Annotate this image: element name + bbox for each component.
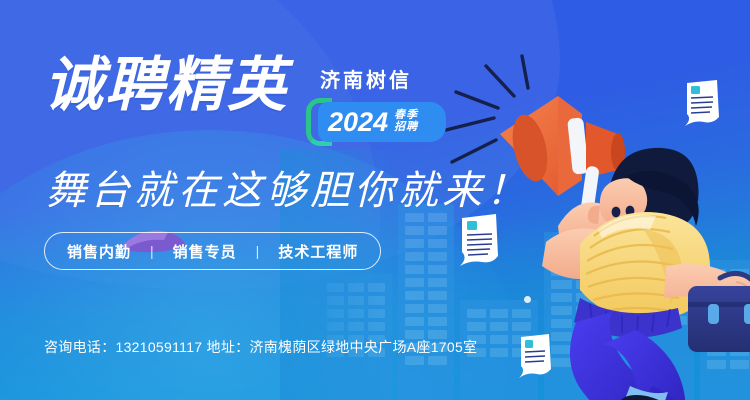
- job-tag-3[interactable]: 技术工程师: [278, 241, 358, 262]
- badge-year: 2024: [328, 109, 388, 136]
- recruitment-banner: 诚聘精英 济南树信 2024 春季 招聘 舞台就在这够胆你就来！ 销售内勤: [0, 0, 750, 400]
- job-tag-2[interactable]: 销售专员: [173, 241, 237, 262]
- job-tag-1[interactable]: 销售内勤: [67, 241, 131, 262]
- headline-row: 诚聘精英 济南树信 2024 春季 招聘: [44, 56, 456, 142]
- job-tags-pill: 销售内勤 | 销售专员 | 技术工程师: [44, 232, 381, 270]
- brand-cluster: 济南树信 2024 春季 招聘: [306, 56, 456, 142]
- badge-subtext: 春季 招聘: [394, 110, 418, 133]
- contact-line: 咨询电话：13210591117 地址：济南槐荫区绿地中央广场A座1705室: [44, 337, 477, 357]
- tag-separator: |: [256, 243, 260, 259]
- badge-sub-line2: 招聘: [394, 122, 418, 134]
- headline-main: 诚聘精英: [44, 56, 288, 115]
- brand-name: 济南树信: [320, 64, 456, 93]
- tag-separator: |: [150, 243, 154, 259]
- season-badge: 2024 春季 招聘: [306, 102, 448, 142]
- banner-content: 诚聘精英 济南树信 2024 春季 招聘 舞台就在这够胆你就来！ 销售内勤: [0, 0, 750, 400]
- subheadline: 舞台就在这够胆你就来！: [46, 158, 530, 216]
- badge-pill: 2024 春季 招聘: [318, 102, 446, 142]
